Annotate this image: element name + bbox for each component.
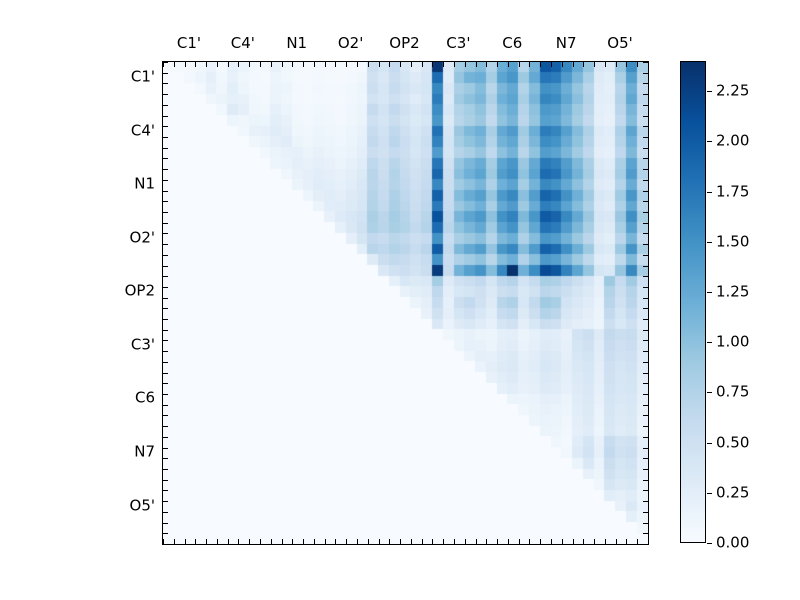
axis-tick — [163, 169, 168, 170]
axis-tick — [357, 539, 358, 544]
colorbar-tick-label-8: 2.00 — [716, 134, 749, 149]
axis-tick — [163, 340, 168, 341]
axis-tick — [325, 539, 326, 544]
axis-tick — [292, 62, 293, 67]
axis-tick — [643, 448, 648, 449]
colorbar-tick — [707, 292, 712, 293]
axis-tick — [643, 512, 648, 513]
axis-tick — [643, 126, 648, 127]
axis-tick — [454, 62, 455, 67]
colorbar-tick — [707, 342, 712, 343]
axis-tick — [163, 158, 168, 159]
axis-tick — [616, 62, 617, 67]
axis-tick — [163, 116, 168, 117]
axis-tick — [643, 169, 648, 170]
axis-tick — [643, 148, 648, 149]
x-tick-label-1: C4' — [231, 36, 255, 51]
axis-tick — [605, 62, 606, 67]
y-tick-label-8: O5' — [130, 498, 155, 513]
axis-tick — [626, 62, 627, 67]
colorbar-gradient — [681, 62, 705, 542]
axis-tick — [163, 233, 168, 234]
axis-tick — [195, 539, 196, 544]
axis-tick — [643, 394, 648, 395]
axis-tick — [163, 533, 168, 534]
x-tick-label-8: O5' — [607, 36, 632, 51]
axis-tick — [163, 308, 168, 309]
axis-tick — [643, 383, 648, 384]
axis-tick — [174, 539, 175, 544]
axis-tick — [249, 62, 250, 67]
axis-tick — [379, 539, 380, 544]
colorbar-tick — [707, 192, 712, 193]
axis-tick — [163, 201, 168, 202]
axis-tick — [163, 319, 168, 320]
y-tick-label-0: C1' — [131, 70, 155, 85]
axis-tick — [163, 448, 168, 449]
axis-tick — [551, 539, 552, 544]
y-tick-label-7: N7 — [134, 444, 155, 459]
axis-tick — [228, 62, 229, 67]
axis-tick — [643, 255, 648, 256]
axis-tick — [217, 62, 218, 67]
axis-tick — [643, 469, 648, 470]
axis-tick — [643, 480, 648, 481]
axis-tick — [643, 137, 648, 138]
axis-tick — [379, 62, 380, 67]
axis-tick — [637, 62, 638, 67]
axis-tick — [163, 287, 168, 288]
x-tick-label-2: N1 — [286, 36, 307, 51]
axis-tick — [643, 501, 648, 502]
axis-tick — [476, 539, 477, 544]
axis-tick — [411, 539, 412, 544]
axis-tick — [163, 137, 168, 138]
y-tick-label-2: N1 — [134, 177, 155, 192]
axis-tick — [163, 394, 168, 395]
figure-canvas: C1'C4'N1O2'OP2C3'C6N7O5' C1'C4'N1O2'OP2C… — [0, 0, 800, 600]
x-tick-label-3: O2' — [338, 36, 363, 51]
axis-tick — [271, 539, 272, 544]
axis-tick — [594, 539, 595, 544]
axis-tick — [163, 105, 168, 106]
colorbar-tick-label-3: 0.75 — [716, 385, 749, 400]
axis-tick — [163, 458, 168, 459]
axis-tick — [163, 148, 168, 149]
axis-tick — [643, 233, 648, 234]
heatmap-plot-area[interactable] — [162, 61, 649, 545]
axis-tick — [217, 539, 218, 544]
axis-tick — [163, 212, 168, 213]
axis-tick — [562, 539, 563, 544]
axis-tick — [643, 340, 648, 341]
colorbar-tick-label-4: 1.00 — [716, 335, 749, 350]
axis-tick — [271, 62, 272, 67]
colorbar-tick — [707, 543, 712, 544]
axis-tick — [643, 523, 648, 524]
axis-tick — [163, 544, 168, 545]
axis-tick — [626, 539, 627, 544]
axis-tick — [163, 126, 168, 127]
axis-tick — [583, 62, 584, 67]
axis-tick — [594, 62, 595, 67]
y-tick-label-5: C3' — [131, 337, 155, 352]
axis-tick — [163, 351, 168, 352]
axis-tick — [228, 539, 229, 544]
axis-tick — [643, 362, 648, 363]
axis-tick — [163, 330, 168, 331]
axis-tick — [185, 539, 186, 544]
axis-tick — [206, 62, 207, 67]
axis-tick — [185, 62, 186, 67]
axis-tick — [238, 539, 239, 544]
axis-tick — [540, 539, 541, 544]
x-tick-label-6: C6 — [502, 36, 522, 51]
axis-tick — [519, 539, 520, 544]
colorbar-tick-label-1: 0.25 — [716, 485, 749, 500]
axis-tick — [174, 62, 175, 67]
axis-tick — [411, 62, 412, 67]
colorbar-tick-label-9: 2.25 — [716, 84, 749, 99]
axis-tick — [643, 437, 648, 438]
axis-tick — [540, 62, 541, 67]
axis-tick — [163, 62, 168, 63]
axis-tick — [573, 539, 574, 544]
axis-tick — [643, 426, 648, 427]
axis-tick — [486, 539, 487, 544]
axis-tick — [476, 62, 477, 67]
colorbar-tick — [707, 443, 712, 444]
axis-tick — [314, 539, 315, 544]
x-tick-label-4: OP2 — [389, 36, 419, 51]
colorbar-tick-label-2: 0.50 — [716, 435, 749, 450]
axis-tick — [643, 351, 648, 352]
axis-tick — [573, 62, 574, 67]
axis-tick — [643, 533, 648, 534]
axis-tick — [163, 94, 168, 95]
axis-tick — [648, 62, 649, 67]
colorbar-tick-label-6: 1.50 — [716, 234, 749, 249]
axis-tick — [163, 191, 168, 192]
axis-tick — [529, 62, 530, 67]
axis-tick — [643, 158, 648, 159]
axis-tick — [643, 105, 648, 106]
axis-tick — [368, 539, 369, 544]
axis-tick — [282, 539, 283, 544]
axis-tick — [400, 62, 401, 67]
axis-tick — [643, 191, 648, 192]
axis-tick — [443, 62, 444, 67]
y-tick-label-6: C6 — [135, 391, 155, 406]
axis-tick — [432, 539, 433, 544]
axis-tick — [163, 426, 168, 427]
colorbar-tick — [707, 141, 712, 142]
axis-tick — [368, 62, 369, 67]
axis-tick — [195, 62, 196, 67]
axis-tick — [562, 62, 563, 67]
axis-tick — [497, 539, 498, 544]
axis-tick — [583, 539, 584, 544]
axis-tick — [643, 298, 648, 299]
axis-tick — [303, 539, 304, 544]
axis-tick — [163, 490, 168, 491]
heatmap-image[interactable] — [163, 62, 648, 544]
axis-tick — [643, 373, 648, 374]
axis-tick — [643, 73, 648, 74]
axis-tick — [389, 539, 390, 544]
colorbar-box — [680, 61, 706, 543]
axis-tick — [605, 539, 606, 544]
axis-tick — [163, 383, 168, 384]
axis-tick — [643, 180, 648, 181]
axis-tick — [163, 512, 168, 513]
axis-tick — [325, 62, 326, 67]
axis-tick — [422, 539, 423, 544]
axis-tick — [643, 405, 648, 406]
axis-tick — [163, 523, 168, 524]
axis-tick — [643, 266, 648, 267]
axis-tick — [314, 62, 315, 67]
axis-tick — [163, 298, 168, 299]
axis-tick — [163, 244, 168, 245]
axis-tick — [465, 539, 466, 544]
axis-tick — [163, 276, 168, 277]
axis-tick — [465, 62, 466, 67]
x-tick-label-0: C1' — [177, 36, 201, 51]
axis-tick — [486, 62, 487, 67]
axis-tick — [400, 539, 401, 544]
colorbar-tick-label-7: 1.75 — [716, 184, 749, 199]
axis-tick — [643, 62, 648, 63]
axis-tick — [292, 539, 293, 544]
axis-tick — [335, 62, 336, 67]
axis-tick — [389, 62, 390, 67]
axis-tick — [163, 373, 168, 374]
axis-tick — [497, 62, 498, 67]
axis-tick — [260, 539, 261, 544]
axis-tick — [163, 362, 168, 363]
axis-tick — [422, 62, 423, 67]
colorbar-tick-label-5: 1.25 — [716, 284, 749, 299]
axis-tick — [163, 83, 168, 84]
axis-tick — [163, 480, 168, 481]
axis-tick — [282, 62, 283, 67]
axis-tick — [163, 223, 168, 224]
axis-tick — [206, 539, 207, 544]
y-tick-label-3: O2' — [130, 230, 155, 245]
colorbar-tick — [707, 493, 712, 494]
axis-tick — [643, 319, 648, 320]
axis-tick — [643, 94, 648, 95]
axis-tick — [648, 539, 649, 544]
axis-tick — [508, 62, 509, 67]
axis-tick — [643, 490, 648, 491]
axis-tick — [163, 180, 168, 181]
axis-tick — [357, 62, 358, 67]
axis-tick — [519, 62, 520, 67]
x-tick-label-7: N7 — [556, 36, 577, 51]
axis-tick — [163, 469, 168, 470]
axis-tick — [443, 539, 444, 544]
axis-tick — [432, 62, 433, 67]
axis-tick — [163, 501, 168, 502]
axis-tick — [643, 330, 648, 331]
axis-tick — [643, 308, 648, 309]
axis-tick — [238, 62, 239, 67]
axis-tick — [643, 544, 648, 545]
axis-tick — [643, 212, 648, 213]
axis-tick — [260, 62, 261, 67]
axis-tick — [551, 62, 552, 67]
colorbar[interactable]: 0.000.250.500.751.001.251.501.752.002.25 — [680, 61, 706, 543]
axis-tick — [508, 539, 509, 544]
colorbar-tick — [707, 91, 712, 92]
axis-tick — [529, 539, 530, 544]
axis-tick — [643, 287, 648, 288]
axis-tick — [346, 62, 347, 67]
axis-tick — [163, 255, 168, 256]
y-tick-label-4: OP2 — [125, 284, 155, 299]
axis-tick — [335, 539, 336, 544]
axis-tick — [643, 83, 648, 84]
axis-tick — [643, 223, 648, 224]
axis-tick — [163, 415, 168, 416]
axis-tick — [163, 405, 168, 406]
axis-tick — [637, 539, 638, 544]
axis-tick — [643, 244, 648, 245]
axis-tick — [163, 73, 168, 74]
axis-tick — [643, 458, 648, 459]
axis-tick — [643, 276, 648, 277]
axis-tick — [643, 415, 648, 416]
colorbar-tick — [707, 392, 712, 393]
axis-tick — [616, 539, 617, 544]
axis-tick — [303, 62, 304, 67]
axis-tick — [346, 539, 347, 544]
axis-tick — [249, 539, 250, 544]
axis-tick — [454, 539, 455, 544]
axis-tick — [163, 266, 168, 267]
colorbar-tick-label-0: 0.00 — [716, 536, 749, 551]
axis-tick — [643, 201, 648, 202]
x-tick-label-5: C3' — [446, 36, 470, 51]
colorbar-tick — [707, 242, 712, 243]
axis-tick — [643, 116, 648, 117]
y-tick-label-1: C4' — [131, 123, 155, 138]
axis-tick — [163, 437, 168, 438]
